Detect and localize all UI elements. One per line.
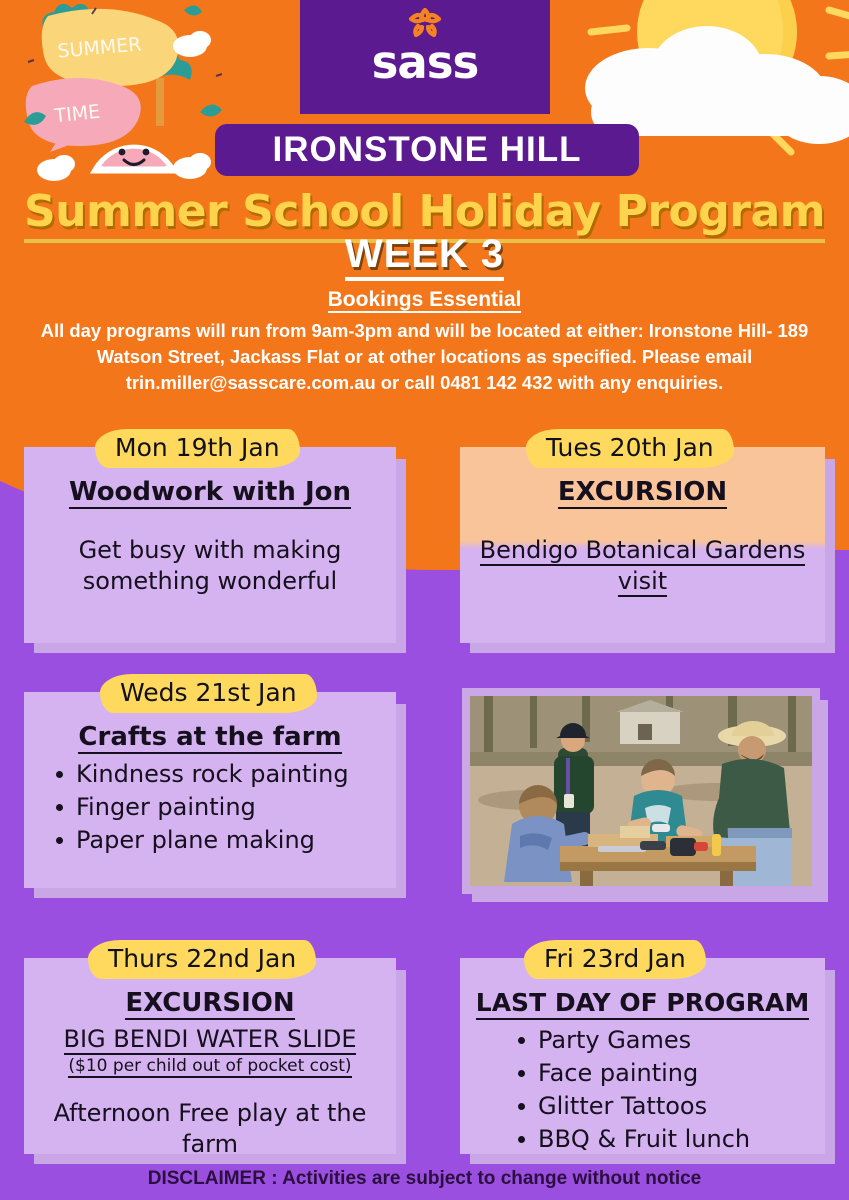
tuesday-body: Bendigo Botanical Gardens visit <box>472 535 813 597</box>
tuesday-heading: EXCURSION <box>558 477 727 509</box>
thursday-heading: EXCURSION <box>125 988 294 1020</box>
card-body: Crafts at the farm Kindness rock paintin… <box>24 692 396 888</box>
bookings-notice-text: Bookings Essential <box>328 288 522 313</box>
tuesday-body-text: Bendigo Botanical Gardens visit <box>480 536 806 597</box>
wednesday-heading: Crafts at the farm <box>78 722 341 754</box>
list-item: Glitter Tattoos <box>516 1090 813 1123</box>
monday-heading: Woodwork with Jon <box>69 477 351 509</box>
farm-woodwork-photo <box>462 688 820 894</box>
list-item: Face painting <box>516 1057 813 1090</box>
date-pill-thursday: Thurs 22nd Jan <box>88 940 316 979</box>
day-card-thursday: EXCURSION BIG BENDI WATER SLIDE ($10 per… <box>24 958 396 1154</box>
day-card-tuesday: EXCURSION Bendigo Botanical Gardens visi… <box>460 447 825 643</box>
week-title: WEEK 3 <box>0 232 849 277</box>
thursday-subheading-wrap: BIG BENDI WATER SLIDE <box>36 1024 384 1055</box>
list-item: Finger painting <box>54 791 384 824</box>
card-body: Woodwork with Jon Get busy with making s… <box>24 447 396 643</box>
list-item: Party Games <box>516 1024 813 1057</box>
photo-illustration <box>470 696 812 886</box>
poster: SUMMER TIME <box>0 0 849 1200</box>
flower-icon <box>408 6 442 38</box>
photo-inner <box>470 696 812 886</box>
sass-logo-block: sass <box>300 0 550 114</box>
date-pill-friday: Fri 23rd Jan <box>524 940 706 979</box>
date-pill-monday: Mon 19th Jan <box>95 429 300 468</box>
thursday-note-wrap: ($10 per child out of pocket cost) <box>36 1056 384 1076</box>
bookings-notice: Bookings Essential <box>0 288 849 312</box>
date-pill-wednesday: Weds 21st Jan <box>100 674 317 713</box>
location-banner: IRONSTONE HILL <box>215 124 639 176</box>
wednesday-activity-list: Kindness rock painting Finger painting P… <box>36 758 384 857</box>
friday-heading: LAST DAY OF PROGRAM <box>476 988 809 1020</box>
info-paragraph: All day programs will run from 9am-3pm a… <box>40 318 809 396</box>
friday-activity-list: Party Games Face painting Glitter Tattoo… <box>472 1024 813 1156</box>
thursday-subheading: BIG BENDI WATER SLIDE <box>64 1025 357 1055</box>
thursday-body: Afternoon Free play at the farm <box>36 1098 384 1160</box>
summer-time-sticker: SUMMER TIME <box>4 2 239 192</box>
day-card-monday: Woodwork with Jon Get busy with making s… <box>24 447 396 643</box>
brand-name: sass <box>372 40 479 86</box>
card-body: EXCURSION Bendigo Botanical Gardens visi… <box>460 447 825 643</box>
day-card-wednesday: Crafts at the farm Kindness rock paintin… <box>24 692 396 888</box>
day-card-friday: LAST DAY OF PROGRAM Party Games Face pai… <box>460 958 825 1154</box>
card-body: EXCURSION BIG BENDI WATER SLIDE ($10 per… <box>24 958 396 1154</box>
card-body: LAST DAY OF PROGRAM Party Games Face pai… <box>460 958 825 1154</box>
disclaimer-text: DISCLAIMER : Activities are subject to c… <box>0 1168 849 1190</box>
list-item: Paper plane making <box>54 824 384 857</box>
list-item: Kindness rock painting <box>54 758 384 791</box>
location-label: IRONSTONE HILL <box>273 130 582 170</box>
list-item: BBQ & Fruit lunch <box>516 1123 813 1156</box>
week-title-text: WEEK 3 <box>345 232 504 281</box>
monday-body: Get busy with making something wonderful <box>36 535 384 597</box>
thursday-note: ($10 per child out of pocket cost) <box>68 1056 351 1078</box>
page-title: Summer School Holiday Program <box>0 186 849 237</box>
date-pill-tuesday: Tues 20th Jan <box>526 429 734 468</box>
